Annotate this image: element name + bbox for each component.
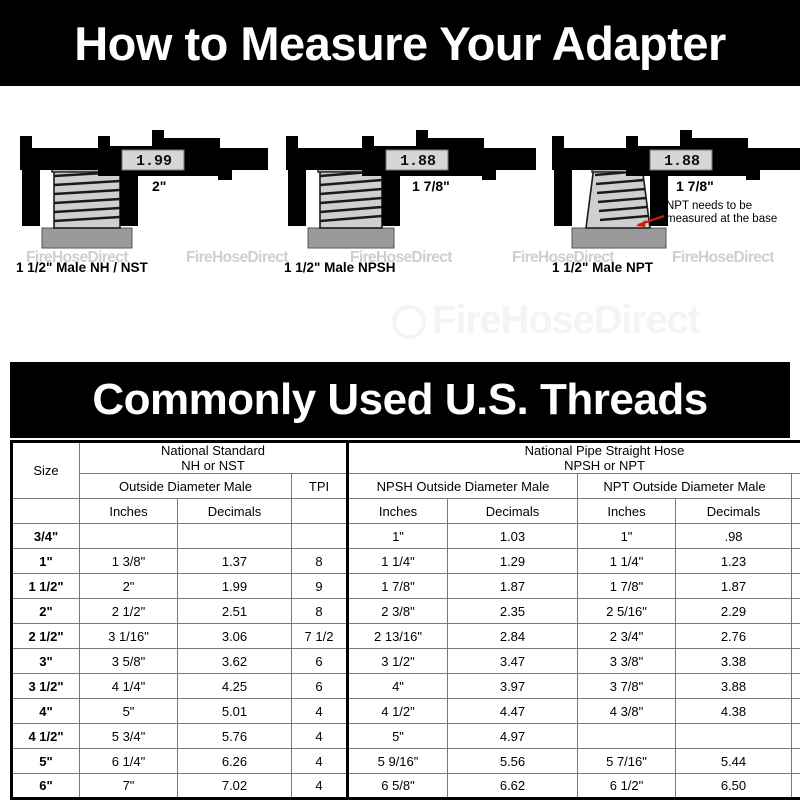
cell-size: 6" xyxy=(12,774,80,799)
col-header-np-tpi: TPI xyxy=(792,474,800,499)
col-header-nh-decimals: Decimals xyxy=(178,499,292,524)
cell-nh-tpi: 8 xyxy=(292,599,348,624)
cell-np-tpi: 8 xyxy=(792,699,800,724)
table-body: 3/4"1"1.031".98141"1 3/8"1.3781 1/4"1.29… xyxy=(12,524,800,799)
cell-npsh-inches: 1" xyxy=(348,524,448,549)
cell-npsh-decimals: 1.29 xyxy=(448,549,578,574)
infographic-page: How to Measure Your Adapter xyxy=(0,0,800,800)
table-header-row-2: Outside Diameter Male TPI NPSH Outside D… xyxy=(12,474,800,499)
npt-note-line1: NPT needs to be xyxy=(666,200,752,212)
cell-nh-tpi: 4 xyxy=(292,699,348,724)
cell-npsh-decimals: 2.84 xyxy=(448,624,578,649)
cell-nh-tpi: 6 xyxy=(292,649,348,674)
cell-npt-decimals xyxy=(676,724,792,749)
cell-np-tpi: 11 1/2 xyxy=(792,574,800,599)
cell-nh-inches: 3 5/8" xyxy=(80,649,178,674)
threads-section-banner: Commonly Used U.S. Threads xyxy=(10,362,790,438)
cell-npsh-inches: 5" xyxy=(348,724,448,749)
table-row: 1 1/2"2"1.9991 7/8"1.871 7/8"1.8711 1/2 xyxy=(12,574,800,599)
page-title-banner: How to Measure Your Adapter xyxy=(0,0,800,86)
dimension-label: 1 7/8" xyxy=(676,178,714,194)
caliper-illustration-npt xyxy=(538,108,800,258)
cell-npsh-decimals: 4.47 xyxy=(448,699,578,724)
cell-size: 3" xyxy=(12,649,80,674)
cell-npt-decimals: 1.87 xyxy=(676,574,792,599)
cell-nh-decimals: 4.25 xyxy=(178,674,292,699)
col-header-nh-inches: Inches xyxy=(80,499,178,524)
caliper-figure-nh-nst: 1.99 2" 1 1/2" Male NH / NST xyxy=(2,108,268,358)
cell-nh-tpi: 8 xyxy=(292,549,348,574)
group-np-line1: National Pipe Straight Hose xyxy=(525,443,685,458)
cell-npsh-decimals: 3.47 xyxy=(448,649,578,674)
cell-npt-inches: 6 1/2" xyxy=(578,774,676,799)
col-header-npsh-inches: Inches xyxy=(348,499,448,524)
cell-size: 1" xyxy=(12,549,80,574)
cell-npt-decimals: 4.38 xyxy=(676,699,792,724)
cell-npsh-inches: 2 3/8" xyxy=(348,599,448,624)
cell-npt-inches: 3 7/8" xyxy=(578,674,676,699)
threads-title: Commonly Used U.S. Threads xyxy=(92,375,707,425)
cell-nh-inches: 3 1/16" xyxy=(80,624,178,649)
cell-npt-decimals: 6.50 xyxy=(676,774,792,799)
cell-size: 2" xyxy=(12,599,80,624)
cell-nh-inches: 5 3/4" xyxy=(80,724,178,749)
cell-npt-decimals: 5.44 xyxy=(676,749,792,774)
col-header-size: Size xyxy=(12,442,80,499)
col-header-size-blank xyxy=(12,499,80,524)
cell-nh-decimals: 5.76 xyxy=(178,724,292,749)
cell-npt-decimals: 1.23 xyxy=(676,549,792,574)
cell-npt-inches: 1" xyxy=(578,524,676,549)
table-row: 3"3 5/8"3.6263 1/2"3.473 3/8"3.388 xyxy=(12,649,800,674)
cell-nh-inches: 7" xyxy=(80,774,178,799)
cell-nh-decimals: 3.06 xyxy=(178,624,292,649)
cell-npt-inches: 1 1/4" xyxy=(578,549,676,574)
col-header-nh-od-male: Outside Diameter Male xyxy=(80,474,292,499)
cell-nh-inches: 2 1/2" xyxy=(80,599,178,624)
caliper-illustration-nh xyxy=(2,108,268,258)
cell-npt-decimals: 3.38 xyxy=(676,649,792,674)
cell-np-tpi: 8 xyxy=(792,749,800,774)
cell-nh-tpi xyxy=(292,524,348,549)
group-nh-line1: National Standard xyxy=(161,443,265,458)
cell-npt-decimals: .98 xyxy=(676,524,792,549)
cell-size: 5" xyxy=(12,749,80,774)
cell-np-tpi: 14 xyxy=(792,524,800,549)
cell-npt-decimals: 2.29 xyxy=(676,599,792,624)
table-header-row-1: Size National Standard NH or NST Nationa… xyxy=(12,442,800,474)
cell-size: 3/4" xyxy=(12,524,80,549)
cell-nh-decimals: 1.99 xyxy=(178,574,292,599)
caliper-figure-npt: 1.88 1 7/8" NPT needs to be measured at … xyxy=(538,108,800,358)
cell-npsh-decimals: 4.97 xyxy=(448,724,578,749)
group-header-national-pipe: National Pipe Straight Hose NPSH or NPT xyxy=(348,442,800,474)
cell-nh-decimals: 7.02 xyxy=(178,774,292,799)
caliper-figure-npsh: 1.88 1 7/8" 1 1/2" Male NPSH xyxy=(270,108,536,358)
cell-npsh-inches: 1 7/8" xyxy=(348,574,448,599)
table-row: 3 1/2"4 1/4"4.2564"3.973 7/8"3.888 xyxy=(12,674,800,699)
npt-note-line2: measured at the base xyxy=(666,213,777,225)
cell-nh-inches: 4 1/4" xyxy=(80,674,178,699)
cell-size: 4 1/2" xyxy=(12,724,80,749)
caliper-lcd-reading: 1.88 xyxy=(388,152,448,170)
cell-npt-inches: 2 3/4" xyxy=(578,624,676,649)
cell-nh-inches: 1 3/8" xyxy=(80,549,178,574)
group-header-national-standard: National Standard NH or NST xyxy=(80,442,348,474)
cell-npsh-decimals: 2.35 xyxy=(448,599,578,624)
table-row: 2 1/2"3 1/16"3.067 1/22 13/16"2.842 3/4"… xyxy=(12,624,800,649)
cell-nh-inches: 5" xyxy=(80,699,178,724)
cell-npsh-decimals: 1.87 xyxy=(448,574,578,599)
table-row: 5"6 1/4"6.2645 9/16"5.565 7/16"5.448 xyxy=(12,749,800,774)
cell-nh-tpi: 4 xyxy=(292,724,348,749)
table-row: 3/4"1"1.031".9814 xyxy=(12,524,800,549)
dimension-label: 2" xyxy=(152,178,166,194)
cell-nh-inches: 2" xyxy=(80,574,178,599)
cell-npsh-decimals: 1.03 xyxy=(448,524,578,549)
table-header-row-3: Inches Decimals Inches Decimals Inches D… xyxy=(12,499,800,524)
cell-nh-inches: 6 1/4" xyxy=(80,749,178,774)
cell-nh-decimals: 3.62 xyxy=(178,649,292,674)
thread-specs-table: Size National Standard NH or NST Nationa… xyxy=(10,440,800,800)
cell-nh-decimals: 2.51 xyxy=(178,599,292,624)
cell-npsh-inches: 3 1/2" xyxy=(348,649,448,674)
cell-npsh-inches: 4 1/2" xyxy=(348,699,448,724)
page-title: How to Measure Your Adapter xyxy=(74,16,726,71)
cell-nh-decimals: 6.26 xyxy=(178,749,292,774)
cell-size: 4" xyxy=(12,699,80,724)
caliper-lcd-reading: 1.99 xyxy=(124,152,184,170)
col-header-npt-decimals: Decimals xyxy=(676,499,792,524)
caliper-illustration-npsh xyxy=(270,108,536,258)
col-header-np-tpi-blank xyxy=(792,499,800,524)
npt-measure-note: NPT needs to be measured at the base xyxy=(666,200,777,226)
cell-npt-decimals: 2.76 xyxy=(676,624,792,649)
dimension-label: 1 7/8" xyxy=(412,178,450,194)
cell-np-tpi: 8 xyxy=(792,724,800,749)
cell-npsh-inches: 1 1/4" xyxy=(348,549,448,574)
figure-caption-nh-nst: 1 1/2" Male NH / NST xyxy=(16,260,148,275)
table-row: 2"2 1/2"2.5182 3/8"2.352 5/16"2.2911 1/2 xyxy=(12,599,800,624)
cell-np-tpi: 8 xyxy=(792,774,800,799)
cell-np-tpi: 8 xyxy=(792,624,800,649)
cell-npt-inches: 5 7/16" xyxy=(578,749,676,774)
table-row: 1"1 3/8"1.3781 1/4"1.291 1/4"1.2311 1/2 xyxy=(12,549,800,574)
col-header-npsh-od-male: NPSH Outside Diameter Male xyxy=(348,474,578,499)
group-nh-line2: NH or NST xyxy=(181,458,245,473)
caliper-diagram-strip: 1.99 2" 1 1/2" Male NH / NST xyxy=(0,86,800,362)
table-row: 4 1/2"5 3/4"5.7645"4.978 xyxy=(12,724,800,749)
col-header-npt-od-male: NPT Outside Diameter Male xyxy=(578,474,792,499)
cell-nh-decimals: 1.37 xyxy=(178,549,292,574)
table-row: 4"5"5.0144 1/2"4.474 3/8"4.388 xyxy=(12,699,800,724)
cell-npsh-inches: 6 5/8" xyxy=(348,774,448,799)
col-header-nh-tpi-blank xyxy=(292,499,348,524)
col-header-npsh-decimals: Decimals xyxy=(448,499,578,524)
cell-npt-inches: 4 3/8" xyxy=(578,699,676,724)
table-row: 6"7"7.0246 5/8"6.626 1/2"6.508 xyxy=(12,774,800,799)
cell-np-tpi: 11 1/2 xyxy=(792,549,800,574)
cell-npsh-inches: 4" xyxy=(348,674,448,699)
cell-np-tpi: 8 xyxy=(792,649,800,674)
cell-npt-inches: 3 3/8" xyxy=(578,649,676,674)
cell-nh-decimals: 5.01 xyxy=(178,699,292,724)
figure-caption-npt: 1 1/2" Male NPT xyxy=(552,260,653,275)
caliper-lcd-reading: 1.88 xyxy=(652,152,712,170)
cell-npsh-decimals: 5.56 xyxy=(448,749,578,774)
cell-npt-inches xyxy=(578,724,676,749)
cell-npsh-decimals: 3.97 xyxy=(448,674,578,699)
cell-nh-tpi: 7 1/2 xyxy=(292,624,348,649)
cell-npsh-inches: 2 13/16" xyxy=(348,624,448,649)
cell-np-tpi: 8 xyxy=(792,674,800,699)
cell-npsh-decimals: 6.62 xyxy=(448,774,578,799)
cell-npt-inches: 2 5/16" xyxy=(578,599,676,624)
group-np-line2: NPSH or NPT xyxy=(564,458,645,473)
cell-npt-inches: 1 7/8" xyxy=(578,574,676,599)
col-header-npt-inches: Inches xyxy=(578,499,676,524)
cell-nh-tpi: 4 xyxy=(292,774,348,799)
cell-size: 1 1/2" xyxy=(12,574,80,599)
cell-nh-inches xyxy=(80,524,178,549)
cell-nh-tpi: 9 xyxy=(292,574,348,599)
cell-nh-decimals xyxy=(178,524,292,549)
cell-size: 3 1/2" xyxy=(12,674,80,699)
cell-np-tpi: 11 1/2 xyxy=(792,599,800,624)
cell-nh-tpi: 6 xyxy=(292,674,348,699)
figure-caption-npsh: 1 1/2" Male NPSH xyxy=(284,260,395,275)
cell-nh-tpi: 4 xyxy=(292,749,348,774)
cell-npt-decimals: 3.88 xyxy=(676,674,792,699)
col-header-nh-tpi: TPI xyxy=(292,474,348,499)
cell-size: 2 1/2" xyxy=(12,624,80,649)
cell-npsh-inches: 5 9/16" xyxy=(348,749,448,774)
